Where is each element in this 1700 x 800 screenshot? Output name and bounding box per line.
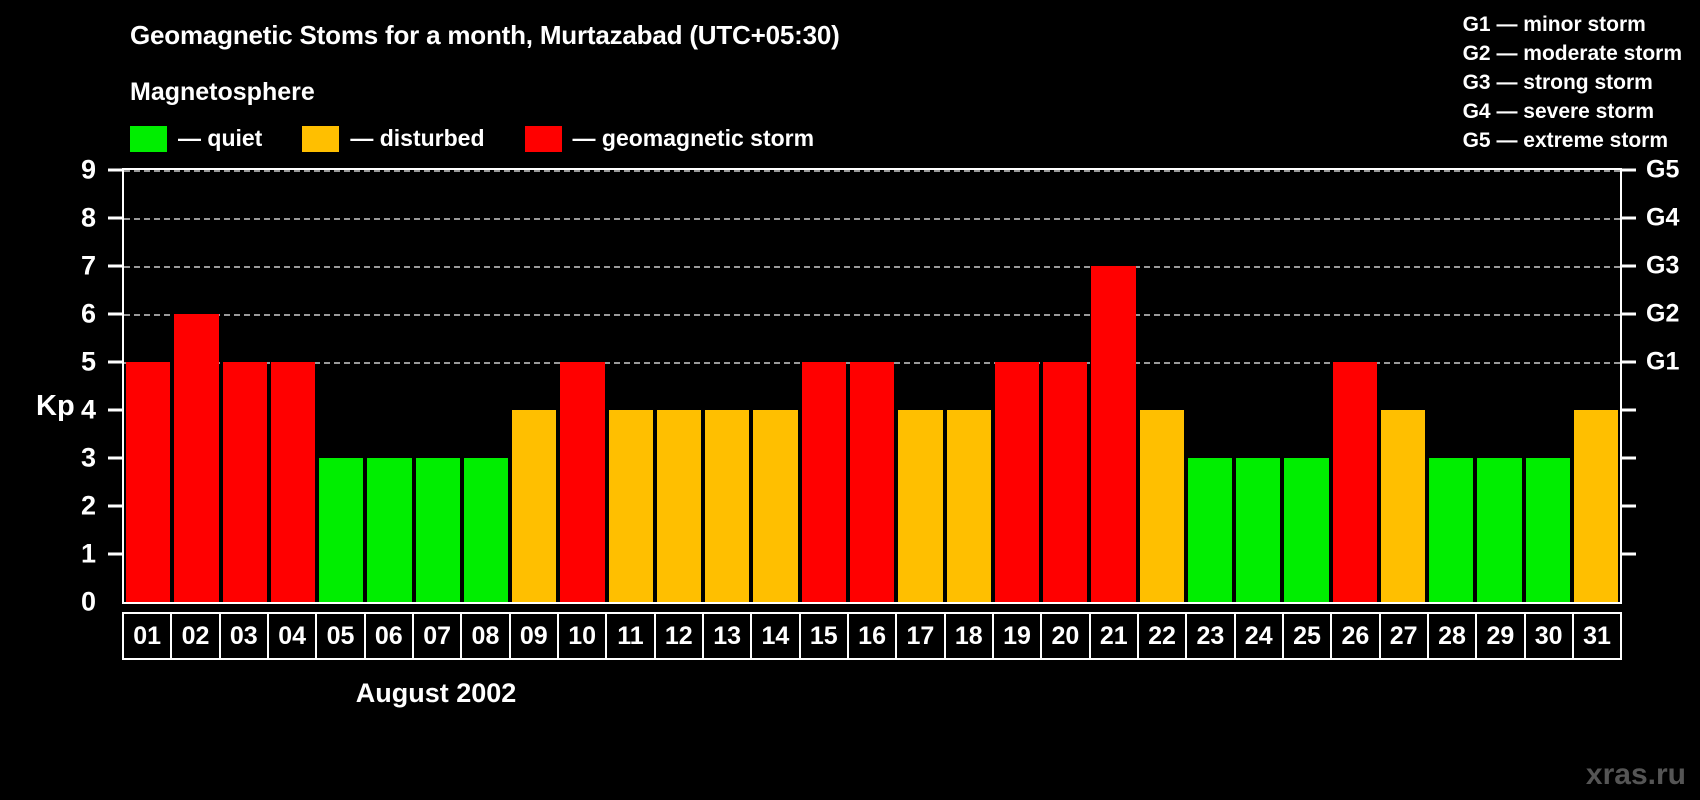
y-tick-mark-7 <box>108 265 122 268</box>
bar-day-18[interactable] <box>947 410 991 602</box>
bar-cell-16[interactable] <box>848 170 896 602</box>
day-label-08[interactable]: 08 <box>460 612 510 660</box>
right-g-axis: G1G2G3G4G5 <box>1622 168 1700 604</box>
g-tick-mark-kp-3 <box>1622 457 1636 460</box>
bar-cell-04[interactable] <box>269 170 317 602</box>
day-label-14[interactable]: 14 <box>750 612 800 660</box>
x-axis-title: August 2002 <box>356 678 517 709</box>
g-scale-row-1: G1 — minor storm <box>1463 10 1682 39</box>
legend-swatch-quiet <box>130 126 167 152</box>
day-label-17[interactable]: 17 <box>895 612 945 660</box>
g-axis-label-G1: G1 <box>1646 348 1679 377</box>
bar-day-13[interactable] <box>705 410 749 602</box>
y-tick-mark-3 <box>108 457 122 460</box>
legend-item-quiet: — quiet <box>130 125 302 152</box>
day-label-30[interactable]: 30 <box>1524 612 1574 660</box>
bar-cell-12[interactable] <box>655 170 703 602</box>
bar-day-30[interactable] <box>1526 458 1570 602</box>
bar-cell-21[interactable] <box>1089 170 1137 602</box>
bar-day-11[interactable] <box>609 410 653 602</box>
y-tick-label-9: 9 <box>81 155 96 186</box>
y-tick-label-3: 3 <box>81 443 96 474</box>
bar-day-15[interactable] <box>802 362 846 602</box>
g-axis-label-G4: G4 <box>1646 204 1679 233</box>
y-tick-mark-9 <box>108 169 122 172</box>
bar-cell-19[interactable] <box>993 170 1041 602</box>
g-tick-mark-kp-4 <box>1622 409 1636 412</box>
bar-cell-18[interactable] <box>945 170 993 602</box>
day-label-10[interactable]: 10 <box>557 612 607 660</box>
g-tick-mark-kp-7 <box>1622 265 1636 268</box>
bar-cell-24[interactable] <box>1234 170 1282 602</box>
day-label-09[interactable]: 09 <box>509 612 559 660</box>
bar-day-01[interactable] <box>126 362 170 602</box>
day-label-21[interactable]: 21 <box>1089 612 1139 660</box>
bar-day-08[interactable] <box>464 458 508 602</box>
bar-cell-27[interactable] <box>1379 170 1427 602</box>
bar-cell-17[interactable] <box>896 170 944 602</box>
bar-day-17[interactable] <box>898 410 942 602</box>
bar-cell-28[interactable] <box>1427 170 1475 602</box>
g-scale-row-2: G2 — moderate storm <box>1463 39 1682 68</box>
bar-day-16[interactable] <box>850 362 894 602</box>
g-tick-mark-kp-8 <box>1622 217 1636 220</box>
day-label-11[interactable]: 11 <box>605 612 655 660</box>
day-label-28[interactable]: 28 <box>1427 612 1477 660</box>
y-tick-label-7: 7 <box>81 251 96 282</box>
day-label-27[interactable]: 27 <box>1379 612 1429 660</box>
bar-day-24[interactable] <box>1236 458 1280 602</box>
g-axis-label-G3: G3 <box>1646 252 1679 281</box>
day-label-26[interactable]: 26 <box>1330 612 1380 660</box>
bar-day-07[interactable] <box>416 458 460 602</box>
bar-day-12[interactable] <box>657 410 701 602</box>
day-label-31[interactable]: 31 <box>1572 612 1622 660</box>
day-label-04[interactable]: 04 <box>267 612 317 660</box>
g-axis-label-G5: G5 <box>1646 156 1679 185</box>
bar-cell-26[interactable] <box>1331 170 1379 602</box>
bar-cell-20[interactable] <box>1041 170 1089 602</box>
legend: — quiet— disturbed— geomagnetic storm <box>130 125 854 152</box>
x-axis-day-labels: 0102030405060708091011121314151617181920… <box>122 612 1622 660</box>
legend-label-disturbed: — disturbed <box>350 125 484 152</box>
day-label-15[interactable]: 15 <box>799 612 849 660</box>
g-tick-mark-kp-1 <box>1622 553 1636 556</box>
bar-day-27[interactable] <box>1381 410 1425 602</box>
bar-cell-31[interactable] <box>1572 170 1620 602</box>
chart-root: Geomagnetic Stoms for a month, Murtazaba… <box>0 0 1700 800</box>
day-label-16[interactable]: 16 <box>847 612 897 660</box>
day-label-20[interactable]: 20 <box>1040 612 1090 660</box>
bar-day-03[interactable] <box>223 362 267 602</box>
bar-day-22[interactable] <box>1140 410 1184 602</box>
day-label-19[interactable]: 19 <box>992 612 1042 660</box>
watermark: xras.ru <box>1586 758 1686 792</box>
bar-cell-02[interactable] <box>172 170 220 602</box>
bar-cell-10[interactable] <box>558 170 606 602</box>
day-label-25[interactable]: 25 <box>1282 612 1332 660</box>
bar-series <box>124 170 1620 602</box>
day-label-05[interactable]: 05 <box>315 612 365 660</box>
legend-label-storm: — geomagnetic storm <box>573 125 815 152</box>
y-tick-mark-5 <box>108 361 122 364</box>
bar-day-23[interactable] <box>1188 458 1232 602</box>
legend-item-disturbed: — disturbed <box>302 125 524 152</box>
y-axis: 0123456789 <box>0 168 122 604</box>
bar-cell-09[interactable] <box>510 170 558 602</box>
g-scale-row-4: G4 — severe storm <box>1463 97 1682 126</box>
y-tick-mark-2 <box>108 505 122 508</box>
day-label-18[interactable]: 18 <box>944 612 994 660</box>
plot-area <box>122 168 1622 604</box>
bar-cell-14[interactable] <box>751 170 799 602</box>
y-tick-label-8: 8 <box>81 203 96 234</box>
bar-day-05[interactable] <box>319 458 363 602</box>
y-tick-mark-4 <box>108 409 122 412</box>
y-tick-label-5: 5 <box>81 347 96 378</box>
y-axis-title: Kp <box>36 390 75 423</box>
y-tick-label-6: 6 <box>81 299 96 330</box>
bar-cell-15[interactable] <box>800 170 848 602</box>
y-tick-label-2: 2 <box>81 491 96 522</box>
bar-day-10[interactable] <box>560 362 604 602</box>
bar-day-04[interactable] <box>271 362 315 602</box>
bar-day-31[interactable] <box>1574 410 1618 602</box>
bar-cell-11[interactable] <box>607 170 655 602</box>
page-title: Geomagnetic Stoms for a month, Murtazaba… <box>130 20 840 51</box>
bar-day-21[interactable] <box>1091 266 1135 602</box>
legend-item-storm: — geomagnetic storm <box>525 125 855 152</box>
y-tick-mark-8 <box>108 217 122 220</box>
bar-day-14[interactable] <box>753 410 797 602</box>
bar-cell-05[interactable] <box>317 170 365 602</box>
bar-cell-30[interactable] <box>1524 170 1572 602</box>
bar-day-02[interactable] <box>174 314 218 602</box>
bar-cell-03[interactable] <box>221 170 269 602</box>
day-label-01[interactable]: 01 <box>122 612 172 660</box>
bar-day-26[interactable] <box>1333 362 1377 602</box>
day-label-13[interactable]: 13 <box>702 612 752 660</box>
y-tick-mark-1 <box>108 553 122 556</box>
day-label-03[interactable]: 03 <box>219 612 269 660</box>
g-tick-mark-kp-2 <box>1622 505 1636 508</box>
g-axis-label-G2: G2 <box>1646 300 1679 329</box>
bar-cell-22[interactable] <box>1138 170 1186 602</box>
legend-heading: Magnetosphere <box>130 78 315 107</box>
bar-cell-13[interactable] <box>703 170 751 602</box>
legend-swatch-storm <box>525 126 562 152</box>
g-scale-row-3: G3 — strong storm <box>1463 68 1682 97</box>
legend-swatch-disturbed <box>302 126 339 152</box>
bar-cell-06[interactable] <box>365 170 413 602</box>
legend-label-quiet: — quiet <box>178 125 262 152</box>
day-label-07[interactable]: 07 <box>412 612 462 660</box>
y-tick-label-4: 4 <box>81 395 96 426</box>
bar-day-28[interactable] <box>1429 458 1473 602</box>
bar-cell-23[interactable] <box>1186 170 1234 602</box>
bar-day-19[interactable] <box>995 362 1039 602</box>
y-tick-label-0: 0 <box>81 587 96 618</box>
x-axis-title-wrap: August 2002 <box>0 678 1700 709</box>
day-label-29[interactable]: 29 <box>1475 612 1525 660</box>
bar-cell-25[interactable] <box>1282 170 1330 602</box>
bar-day-20[interactable] <box>1043 362 1087 602</box>
bar-day-29[interactable] <box>1477 458 1521 602</box>
g-scale-legend: G1 — minor stormG2 — moderate stormG3 — … <box>1463 10 1682 155</box>
day-label-22[interactable]: 22 <box>1137 612 1187 660</box>
day-label-24[interactable]: 24 <box>1234 612 1284 660</box>
day-label-06[interactable]: 06 <box>364 612 414 660</box>
bar-cell-29[interactable] <box>1475 170 1523 602</box>
day-label-12[interactable]: 12 <box>654 612 704 660</box>
bar-cell-01[interactable] <box>124 170 172 602</box>
day-label-02[interactable]: 02 <box>170 612 220 660</box>
bar-day-06[interactable] <box>367 458 411 602</box>
g-tick-mark-kp-5 <box>1622 361 1636 364</box>
g-tick-mark-kp-9 <box>1622 169 1636 172</box>
bar-cell-07[interactable] <box>414 170 462 602</box>
y-tick-label-1: 1 <box>81 539 96 570</box>
g-tick-mark-kp-6 <box>1622 313 1636 316</box>
day-label-23[interactable]: 23 <box>1185 612 1235 660</box>
bar-day-25[interactable] <box>1284 458 1328 602</box>
bar-cell-08[interactable] <box>462 170 510 602</box>
bar-day-09[interactable] <box>512 410 556 602</box>
g-scale-row-5: G5 — extreme storm <box>1463 126 1682 155</box>
y-tick-mark-6 <box>108 313 122 316</box>
